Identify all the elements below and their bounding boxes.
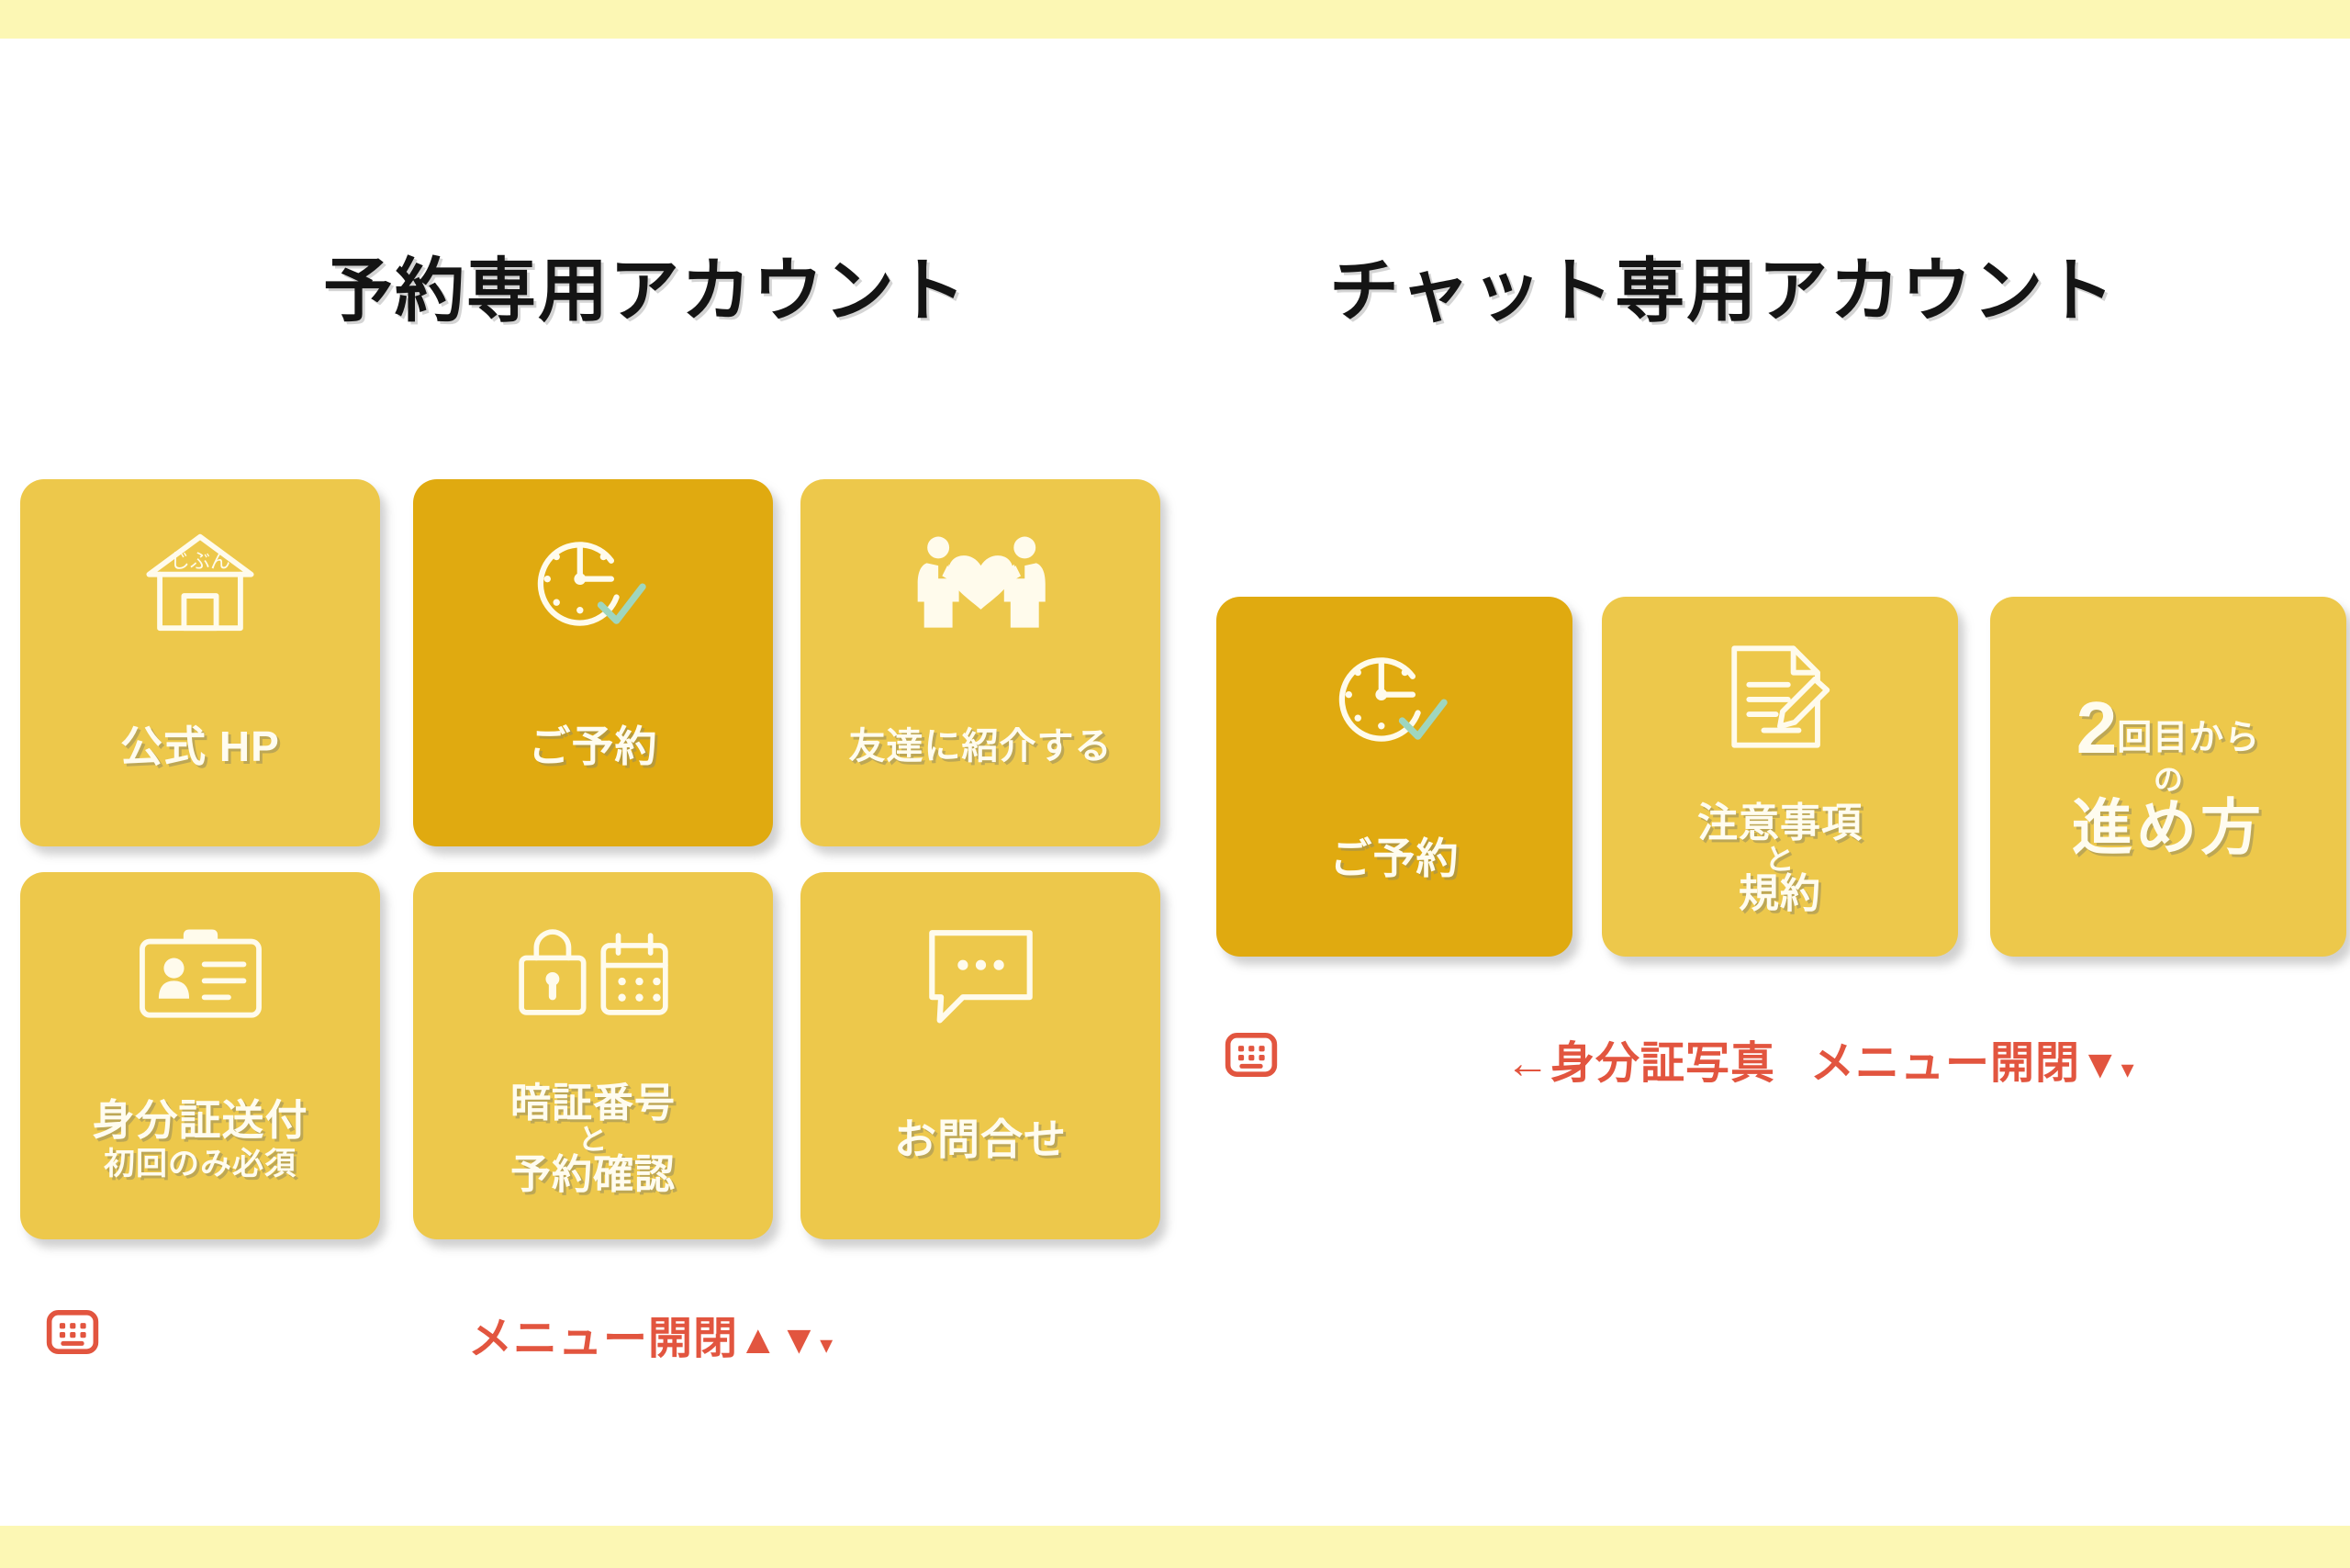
tile-text-wrap: ご予約 — [413, 655, 773, 846]
howto-row-1: 2 回目から — [2076, 693, 2261, 763]
tile-text-wrap: 友達に紹介する — [800, 655, 1160, 846]
tile-label: 友達に紹介する — [849, 726, 1113, 767]
screenshot-root: 予約専用アカウント チャット専用アカウント じぶん 公式 HP — [0, 0, 2350, 1568]
tile-label-line1: 暗証番号 — [510, 1083, 676, 1125]
tile-label-line1: 注意事項 — [1697, 803, 1863, 845]
tile-id-submission[interactable]: 身分証送付 初回のみ必須 — [20, 872, 380, 1239]
tile-text-wrap: ご予約 — [1216, 769, 1572, 957]
bottom-yellow-band — [0, 1526, 2350, 1568]
speech-bubble-icon — [919, 901, 1043, 1047]
top-yellow-band — [0, 0, 2350, 39]
house-jibun-icon: じぶん — [131, 508, 269, 655]
clock-check-icon — [1326, 625, 1463, 769]
tile-label: お問合せ — [894, 1116, 1067, 1164]
tile-label: ご予約 — [529, 723, 658, 771]
tile-sublabel: 初回のみ必須 — [104, 1147, 297, 1182]
tile-refer-friend[interactable]: 友達に紹介する — [800, 479, 1160, 846]
lock-calendar-icon — [513, 901, 674, 1047]
tile-terms-and-rules[interactable]: 注意事項 と 規約 — [1602, 597, 1958, 957]
tile-label-line3: 規約 — [1739, 874, 1821, 915]
tile-text-wrap: 注意事項 と 規約 — [1602, 769, 1958, 957]
tile-reservation-left[interactable]: ご予約 — [413, 479, 773, 846]
tile-label-stack: 暗証番号 と 予約確認 — [510, 1083, 676, 1195]
tile-reservation-right[interactable]: ご予約 — [1216, 597, 1572, 957]
howto-text-block: 2 回目から の 進め方 — [1990, 597, 2346, 957]
howto-line1: 回目から — [2117, 721, 2260, 763]
keyboard-icon[interactable] — [44, 1304, 101, 1361]
tile-label-line3: 予約確認 — [510, 1155, 676, 1196]
tile-text-wrap: お問合せ — [800, 1047, 1160, 1239]
howto-line2: の — [2154, 765, 2183, 794]
annotation-text-menu-toggle: メニュー開閉 — [1810, 1039, 2080, 1088]
left-arrow-icon: ← — [1505, 1039, 1550, 1088]
tile-contact[interactable]: お問合せ — [800, 872, 1160, 1239]
triangle-down-icon: ▼ — [779, 1317, 821, 1362]
triangle-up-icon: ▲ — [738, 1317, 779, 1362]
annotation-id-photo-and-menu-toggle: ←身分証写真メニュー開閉▼▾ — [1505, 1026, 2135, 1091]
document-pencil-icon — [1720, 625, 1840, 769]
triangle-down-icon: ▼ — [2080, 1042, 2121, 1087]
tile-text-wrap: 公式 HP — [20, 655, 380, 846]
howto-line3: 進め方 — [2072, 796, 2265, 859]
section-title-chat: チャット専用アカウント — [1329, 234, 2116, 335]
triangle-small-icon: ▾ — [820, 1330, 834, 1359]
two-people-heart-icon — [910, 508, 1052, 655]
tile-text-wrap: 身分証送付 初回のみ必須 — [20, 1047, 380, 1239]
tile-official-hp[interactable]: じぶん 公式 HP — [20, 479, 380, 846]
annotation-text: メニュー開閉 — [468, 1315, 738, 1363]
keyboard-icon[interactable] — [1223, 1026, 1280, 1083]
clock-check-icon — [524, 508, 662, 655]
tile-label-line2: と — [1764, 845, 1795, 875]
section-title-reservation: 予約専用アカウント — [323, 234, 968, 335]
svg-text:じぶん: じぶん — [170, 550, 230, 573]
tile-label-line2: と — [577, 1125, 608, 1155]
triangle-small-icon: ▾ — [2121, 1055, 2135, 1083]
tile-label: 身分証送付 — [93, 1097, 308, 1145]
tile-pin-and-confirm[interactable]: 暗証番号 と 予約確認 — [413, 872, 773, 1239]
tile-label-stack: 注意事項 と 規約 — [1697, 803, 1863, 915]
annotation-menu-toggle-left: メニュー開閉▲▼▾ — [468, 1302, 834, 1366]
annotation-text-id-photo: 身分証写真 — [1550, 1039, 1775, 1088]
tile-text-wrap: 暗証番号 と 予約確認 — [413, 1047, 773, 1239]
tile-label: ご予約 — [1330, 835, 1460, 883]
tile-howto-second-time[interactable]: 2 回目から の 進め方 — [1990, 597, 2346, 957]
tile-label: 公式 HP — [120, 723, 280, 771]
howto-number: 2 — [2076, 693, 2118, 763]
id-card-icon — [134, 901, 267, 1047]
